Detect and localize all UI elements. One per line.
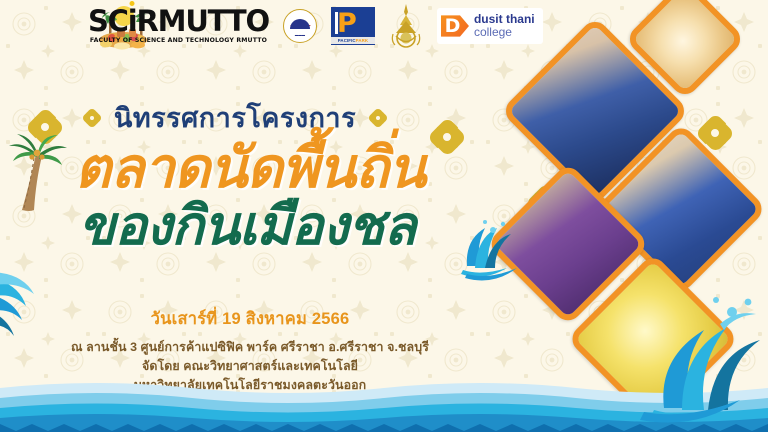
poster-headline: ตลาดนัดพื้นถิ่น ของกินเมืองชล <box>0 140 500 252</box>
dusit-line2: college <box>474 26 535 39</box>
sci-rmutto-subtitle: FACULTY OF SCIENCE AND TECHNOLOGY RMUTTO <box>90 38 267 44</box>
poster-subtitle: นิทรรศการโครงการ <box>114 96 356 139</box>
pacific-park-name-part1: PACIFIC <box>338 38 356 43</box>
pacific-park-mark: P PACIFICPARK <box>331 7 375 45</box>
sci-rmutto-wordmark: SCiRMUTTO <box>88 7 269 36</box>
dusit-letter: D <box>445 17 461 36</box>
dusit-thani-wordmark: dusit thani college <box>474 13 535 39</box>
sci-word-part1: SC <box>88 4 128 38</box>
headline-line-1: ตลาดนัดพื้นถิ่น <box>0 140 500 196</box>
logo-pacific-park: P PACIFICPARK <box>331 7 375 45</box>
sci-word-part2: i <box>128 4 137 38</box>
dusit-thani-mark: D <box>441 12 469 40</box>
sponsor-logo-bar: SCiRMUTTO FACULTY OF SCIENCE AND TECHNOL… <box>0 0 768 52</box>
event-poster: SCiRMUTTO FACULTY OF SCIENCE AND TECHNOL… <box>0 0 768 432</box>
event-venue: ณ ลานชั้น 3 ศูนย์การค้าแปซิฟิค พาร์ค ศรี… <box>0 338 500 357</box>
emblem-band: ▬▬▬ <box>284 33 316 37</box>
flower-ornament-icon <box>84 110 100 126</box>
headline-line-2: ของกินเมืองชล <box>0 198 500 252</box>
logo-dusit-thani-college: D dusit thani college <box>437 8 543 44</box>
royal-emblem-icon <box>389 3 423 49</box>
logo-circular-emblem: ★★★ ▬▬▬ <box>283 9 317 43</box>
circular-emblem-icon: ★★★ ▬▬▬ <box>283 9 317 43</box>
pacific-park-letter: P <box>337 10 357 37</box>
flower-ornament-icon <box>370 110 386 126</box>
wave-splash-icon <box>437 210 523 282</box>
event-date: วันเสาร์ที่ 19 สิงหาคม 2566 <box>0 306 500 332</box>
logo-sci-rmutto: SCiRMUTTO FACULTY OF SCIENCE AND TECHNOL… <box>88 7 269 44</box>
poster-subtitle-row: นิทรรศการโครงการ <box>0 96 470 139</box>
wave-splash-icon <box>624 284 768 412</box>
sci-word-part3: RMUTTO <box>137 4 269 38</box>
pacific-park-name-part2: PARK <box>356 38 369 43</box>
pacific-park-name: PACIFICPARK <box>331 37 375 44</box>
